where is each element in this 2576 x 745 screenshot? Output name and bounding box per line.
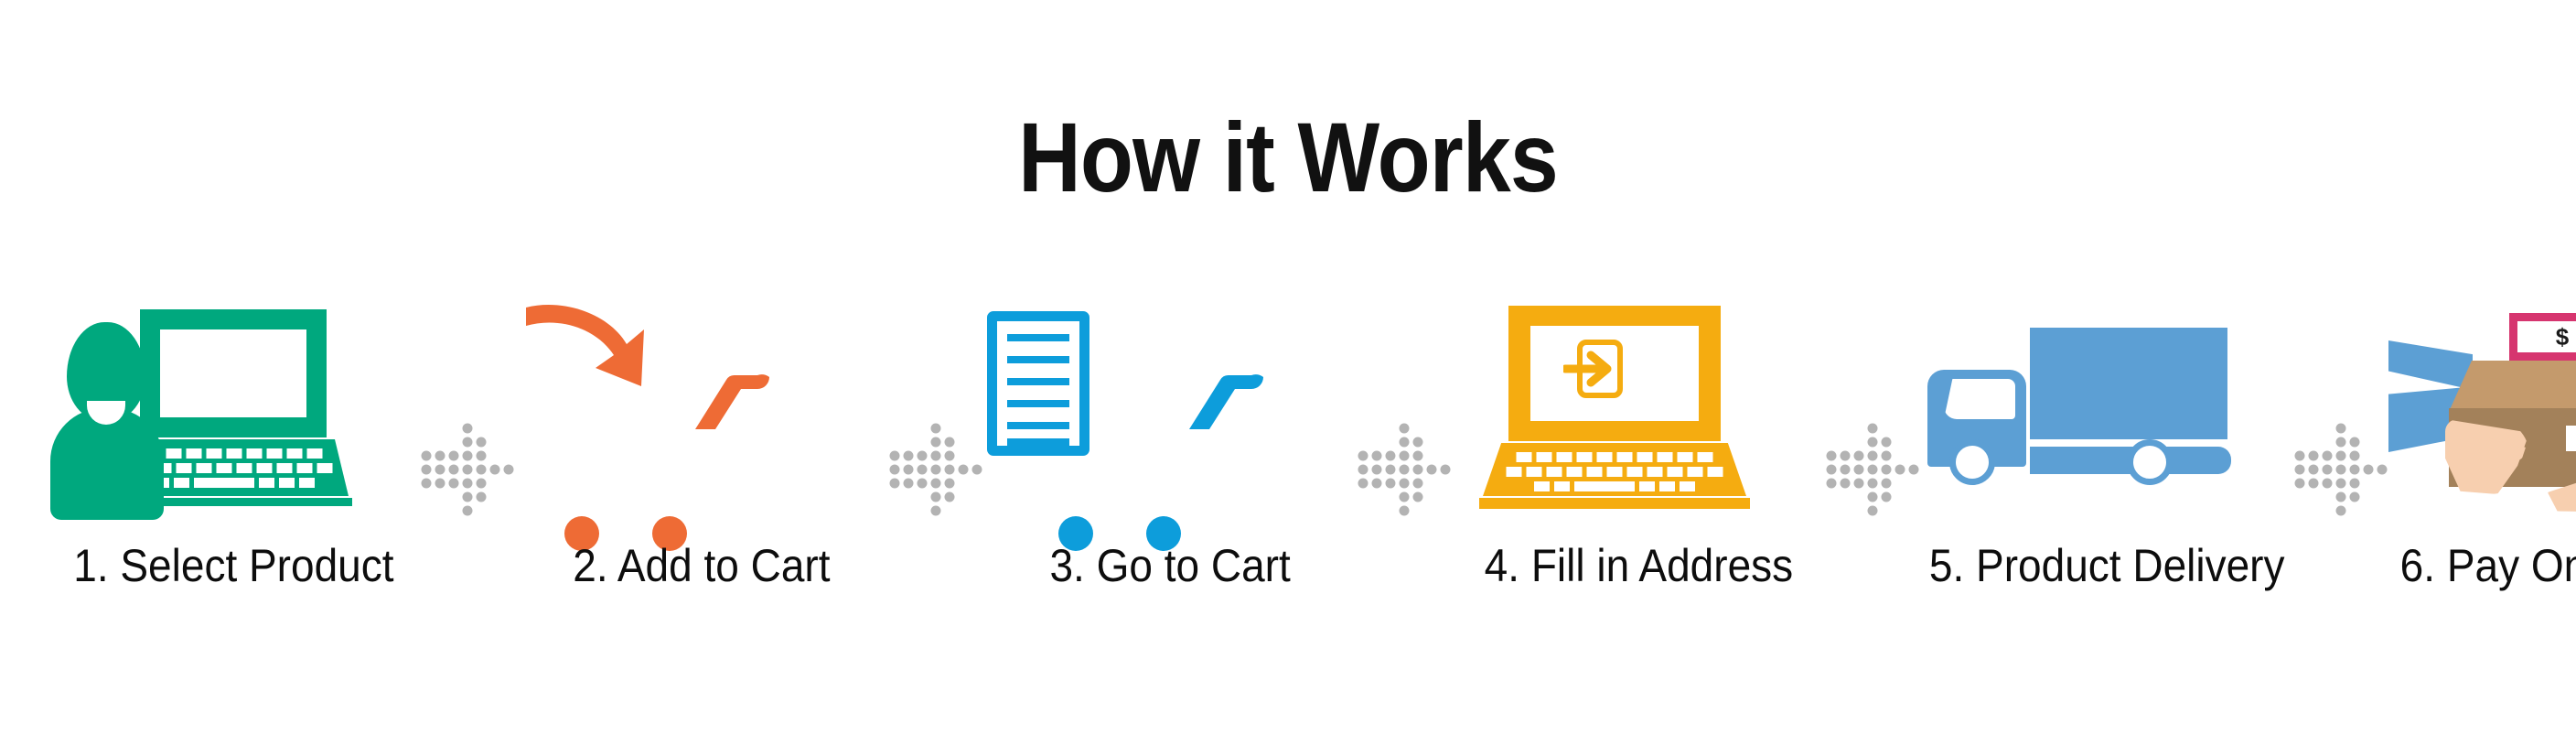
package-shipping-label (2566, 426, 2576, 451)
step-pay-on-delivery[interactable]: $ 6. Pay On Delivery (2392, 302, 2576, 590)
steps-strip: 1. Select Product (50, 302, 2538, 632)
truck-wheel-rear (2127, 439, 2173, 485)
step-fill-in-address[interactable]: 4. Fill in Address (1455, 302, 1821, 590)
document-icon (987, 311, 1089, 456)
delivery-truck-icon (1924, 302, 2290, 531)
step-select-product[interactable]: 1. Select Product (50, 302, 416, 590)
truck-body (1927, 328, 2229, 502)
step-label: 1. Select Product (73, 542, 393, 590)
cash-note: $ (2509, 313, 2576, 361)
step-go-to-cart[interactable]: 3. Go to Cart (987, 302, 1353, 590)
laptop-keyboard-base (1483, 443, 1746, 496)
dotted-right-arrow-icon (2290, 355, 2392, 584)
step-label: 4. Fill in Address (1484, 542, 1792, 590)
hands-exchanging-box-and-cash-icon: $ (2392, 302, 2576, 531)
dollar-symbol: $ (2556, 325, 2569, 349)
keyboard-keys (1483, 443, 1746, 496)
person-torso (50, 408, 164, 520)
page-title: How it Works (155, 108, 2421, 207)
dotted-right-arrow-icon (1821, 355, 1924, 584)
shopping-cart-with-arrow-icon (519, 302, 885, 531)
step-label: 6. Pay On Delivery (2399, 542, 2576, 590)
step-label: 2. Add to Cart (573, 542, 830, 590)
laptop-foot (1479, 498, 1750, 509)
laptop-screen (140, 309, 327, 437)
login-enter-arrow-icon (1563, 339, 1624, 399)
dotted-right-arrow-icon (885, 355, 987, 584)
cart-handle (1165, 372, 1267, 437)
truck-cargo-box (2030, 328, 2227, 439)
dotted-right-arrow-icon (416, 355, 519, 584)
document-and-cart-icon (987, 302, 1353, 531)
person-at-laptop-icon (50, 302, 416, 531)
step-add-to-cart[interactable]: 2. Add to Cart (519, 302, 885, 590)
truck-window (1944, 379, 2015, 419)
courier-sleeve-upper (2388, 340, 2473, 390)
step-product-delivery[interactable]: 5. Product Delivery (1924, 302, 2290, 590)
dotted-right-arrow-icon (1353, 355, 1455, 584)
cart-body (544, 379, 773, 533)
laptop-login-form-icon (1455, 302, 1821, 531)
truck-wheel-front (1949, 439, 1995, 485)
step-label: 5. Product Delivery (1929, 542, 2285, 590)
step-label: 3. Go to Cart (1049, 542, 1290, 590)
cart-handle (671, 372, 773, 437)
